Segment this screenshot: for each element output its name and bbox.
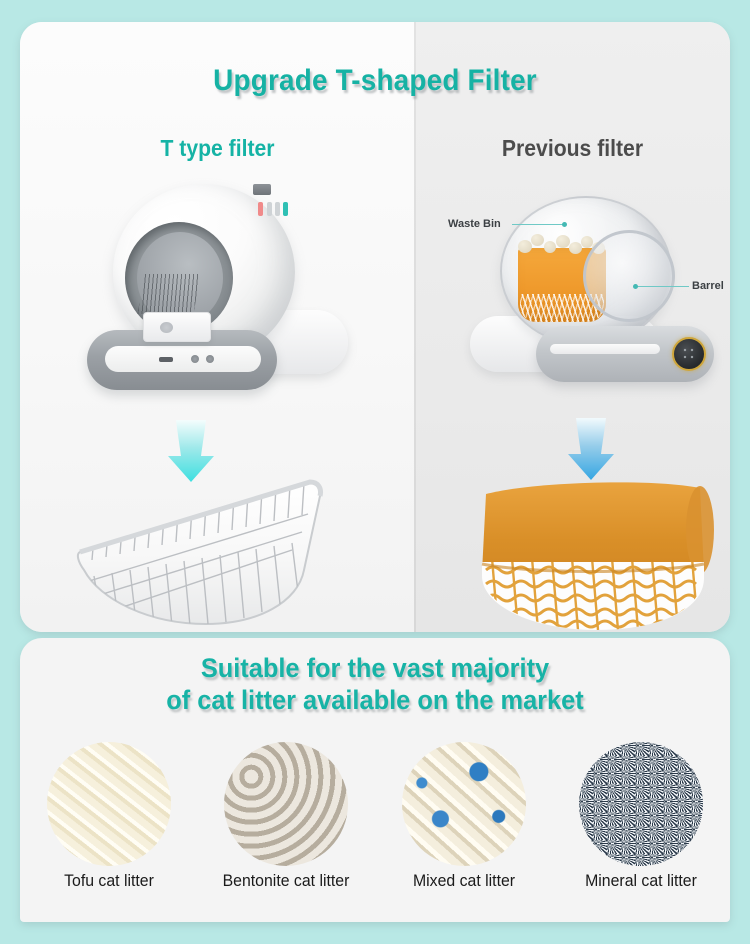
litter-box-front-tray: [143, 312, 211, 342]
litter-label: Mixed cat litter: [383, 872, 544, 891]
infographic-page: Upgrade T-shaped Filter T type filter Pr…: [0, 0, 750, 944]
litter-label: Mineral cat litter: [561, 872, 722, 891]
litter-box-button: [206, 355, 214, 363]
litter-compatibility-card: Suitable for the vast majority of cat li…: [20, 638, 730, 922]
litter-label: Bentonite cat litter: [206, 872, 367, 891]
litter-box-sensor: [253, 184, 271, 195]
litter-box-logo-bar: [283, 202, 288, 216]
litter-type-list: Tofu cat litter Bentonite cat litter Mix…: [20, 742, 730, 891]
new-litter-box-image: [75, 182, 365, 397]
page-title: Upgrade T-shaped Filter: [45, 64, 705, 98]
callout-leader-line: [637, 286, 689, 287]
panel-divider: [414, 22, 416, 632]
previous-control-panel: [672, 337, 706, 371]
down-arrow-cyan-icon: [164, 420, 218, 482]
litter-box-rake: [137, 274, 200, 314]
litter-box-logo-bar: [275, 202, 280, 216]
litter-box-button: [191, 355, 199, 363]
callout-waste-bin: Waste Bin: [448, 218, 501, 230]
t-shaped-filter-image: [72, 474, 372, 632]
comparison-card: Upgrade T-shaped Filter T type filter Pr…: [20, 22, 730, 632]
previous-barrel: [583, 230, 675, 322]
litter-label: Tofu cat litter: [28, 872, 189, 891]
bottom-title: Suitable for the vast majority of cat li…: [41, 652, 708, 716]
callout-dot: [633, 284, 638, 289]
callout-leader-line: [512, 224, 564, 225]
orange-filter-image: [472, 454, 730, 632]
list-item: Tofu cat litter: [25, 742, 193, 891]
list-item: Bentonite cat litter: [202, 742, 370, 891]
mineral-litter-photo: [579, 742, 703, 866]
list-item: Mineral cat litter: [557, 742, 725, 891]
tofu-litter-photo: [47, 742, 171, 866]
litter-box-base-strip: [105, 346, 261, 372]
list-item: Mixed cat litter: [380, 742, 548, 891]
litter-box-logo-bar: [267, 202, 272, 216]
bottom-title-line1: Suitable for the vast majority: [41, 652, 708, 684]
left-panel-subtitle: T type filter: [36, 135, 399, 162]
right-panel-subtitle: Previous filter: [428, 135, 718, 162]
previous-drawer-strip: [550, 344, 660, 354]
bottom-title-line2: of cat litter available on the market: [41, 684, 708, 716]
bentonite-litter-photo: [224, 742, 348, 866]
mixed-litter-photo: [402, 742, 526, 866]
callout-dot: [562, 222, 567, 227]
litter-box-logo-bar: [258, 202, 263, 216]
callout-barrel: Barrel: [692, 280, 724, 292]
litter-box-power-port: [159, 357, 173, 362]
